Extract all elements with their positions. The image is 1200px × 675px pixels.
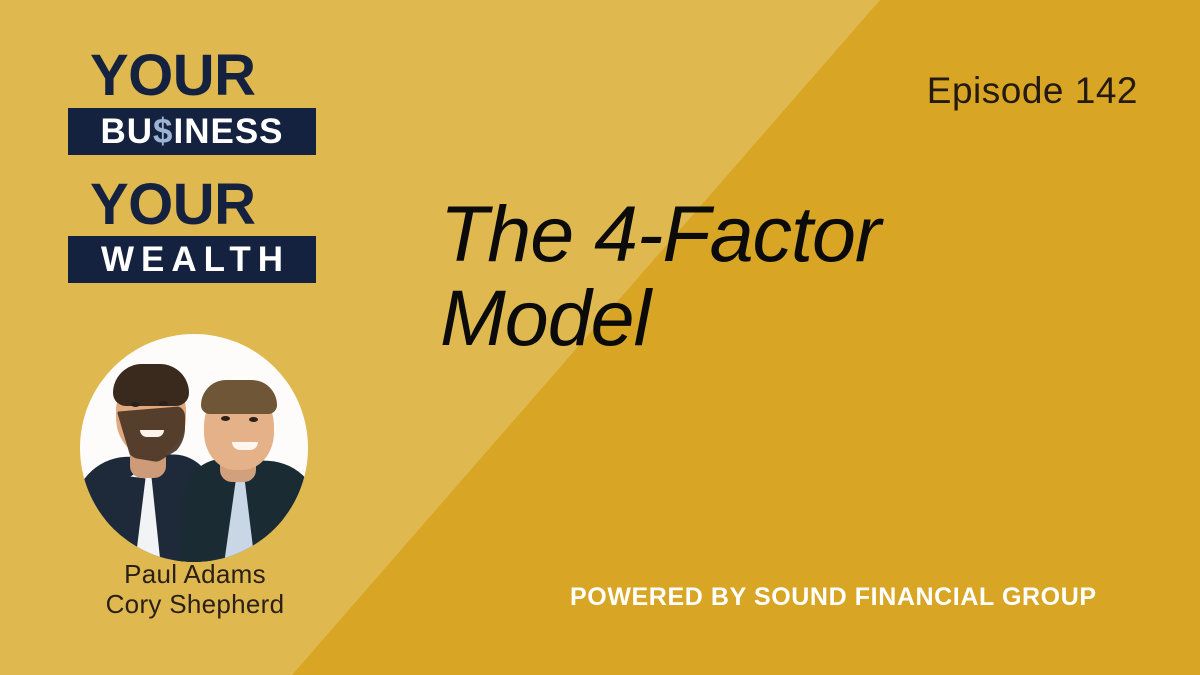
host1-eye-right bbox=[159, 401, 168, 406]
host-names: Paul Adams Cory Shepherd bbox=[0, 560, 390, 620]
host-name-2: Cory Shepherd bbox=[0, 590, 390, 620]
hosts-portrait-illustration bbox=[80, 334, 308, 562]
dollar-sign-icon: $ bbox=[153, 112, 173, 151]
host2-eye-right bbox=[249, 417, 258, 422]
host2-eye-left bbox=[221, 416, 230, 421]
episode-title-line-1: The 4-Factor bbox=[440, 192, 1060, 276]
logo-bar-business: BU$INESS bbox=[68, 108, 316, 155]
host2-hair bbox=[201, 380, 277, 414]
episode-title-line-2: Model bbox=[440, 276, 1060, 360]
logo-business-pre: BU bbox=[100, 112, 153, 151]
logo-word-your-2: YOUR bbox=[90, 177, 316, 233]
host-name-1: Paul Adams bbox=[0, 560, 390, 590]
host1-hair bbox=[113, 364, 189, 406]
logo-bar-wealth: WEALTH bbox=[68, 236, 316, 283]
episode-label: Episode 142 bbox=[927, 70, 1138, 112]
host2-smile bbox=[232, 442, 258, 450]
hosts-photo-circle bbox=[80, 334, 308, 562]
host1-smile bbox=[140, 430, 164, 437]
episode-title: The 4-Factor Model bbox=[440, 192, 1060, 359]
powered-by-label: POWERED BY SOUND FINANCIAL GROUP bbox=[570, 583, 1097, 612]
logo-word-your-1: YOUR bbox=[90, 48, 316, 104]
host1-eye-left bbox=[131, 402, 140, 407]
show-logo: YOUR BU$INESS YOUR WEALTH bbox=[68, 48, 316, 283]
logo-business-post: INESS bbox=[173, 112, 283, 151]
podcast-episode-cover: YOUR BU$INESS YOUR WEALTH bbox=[0, 0, 1200, 675]
